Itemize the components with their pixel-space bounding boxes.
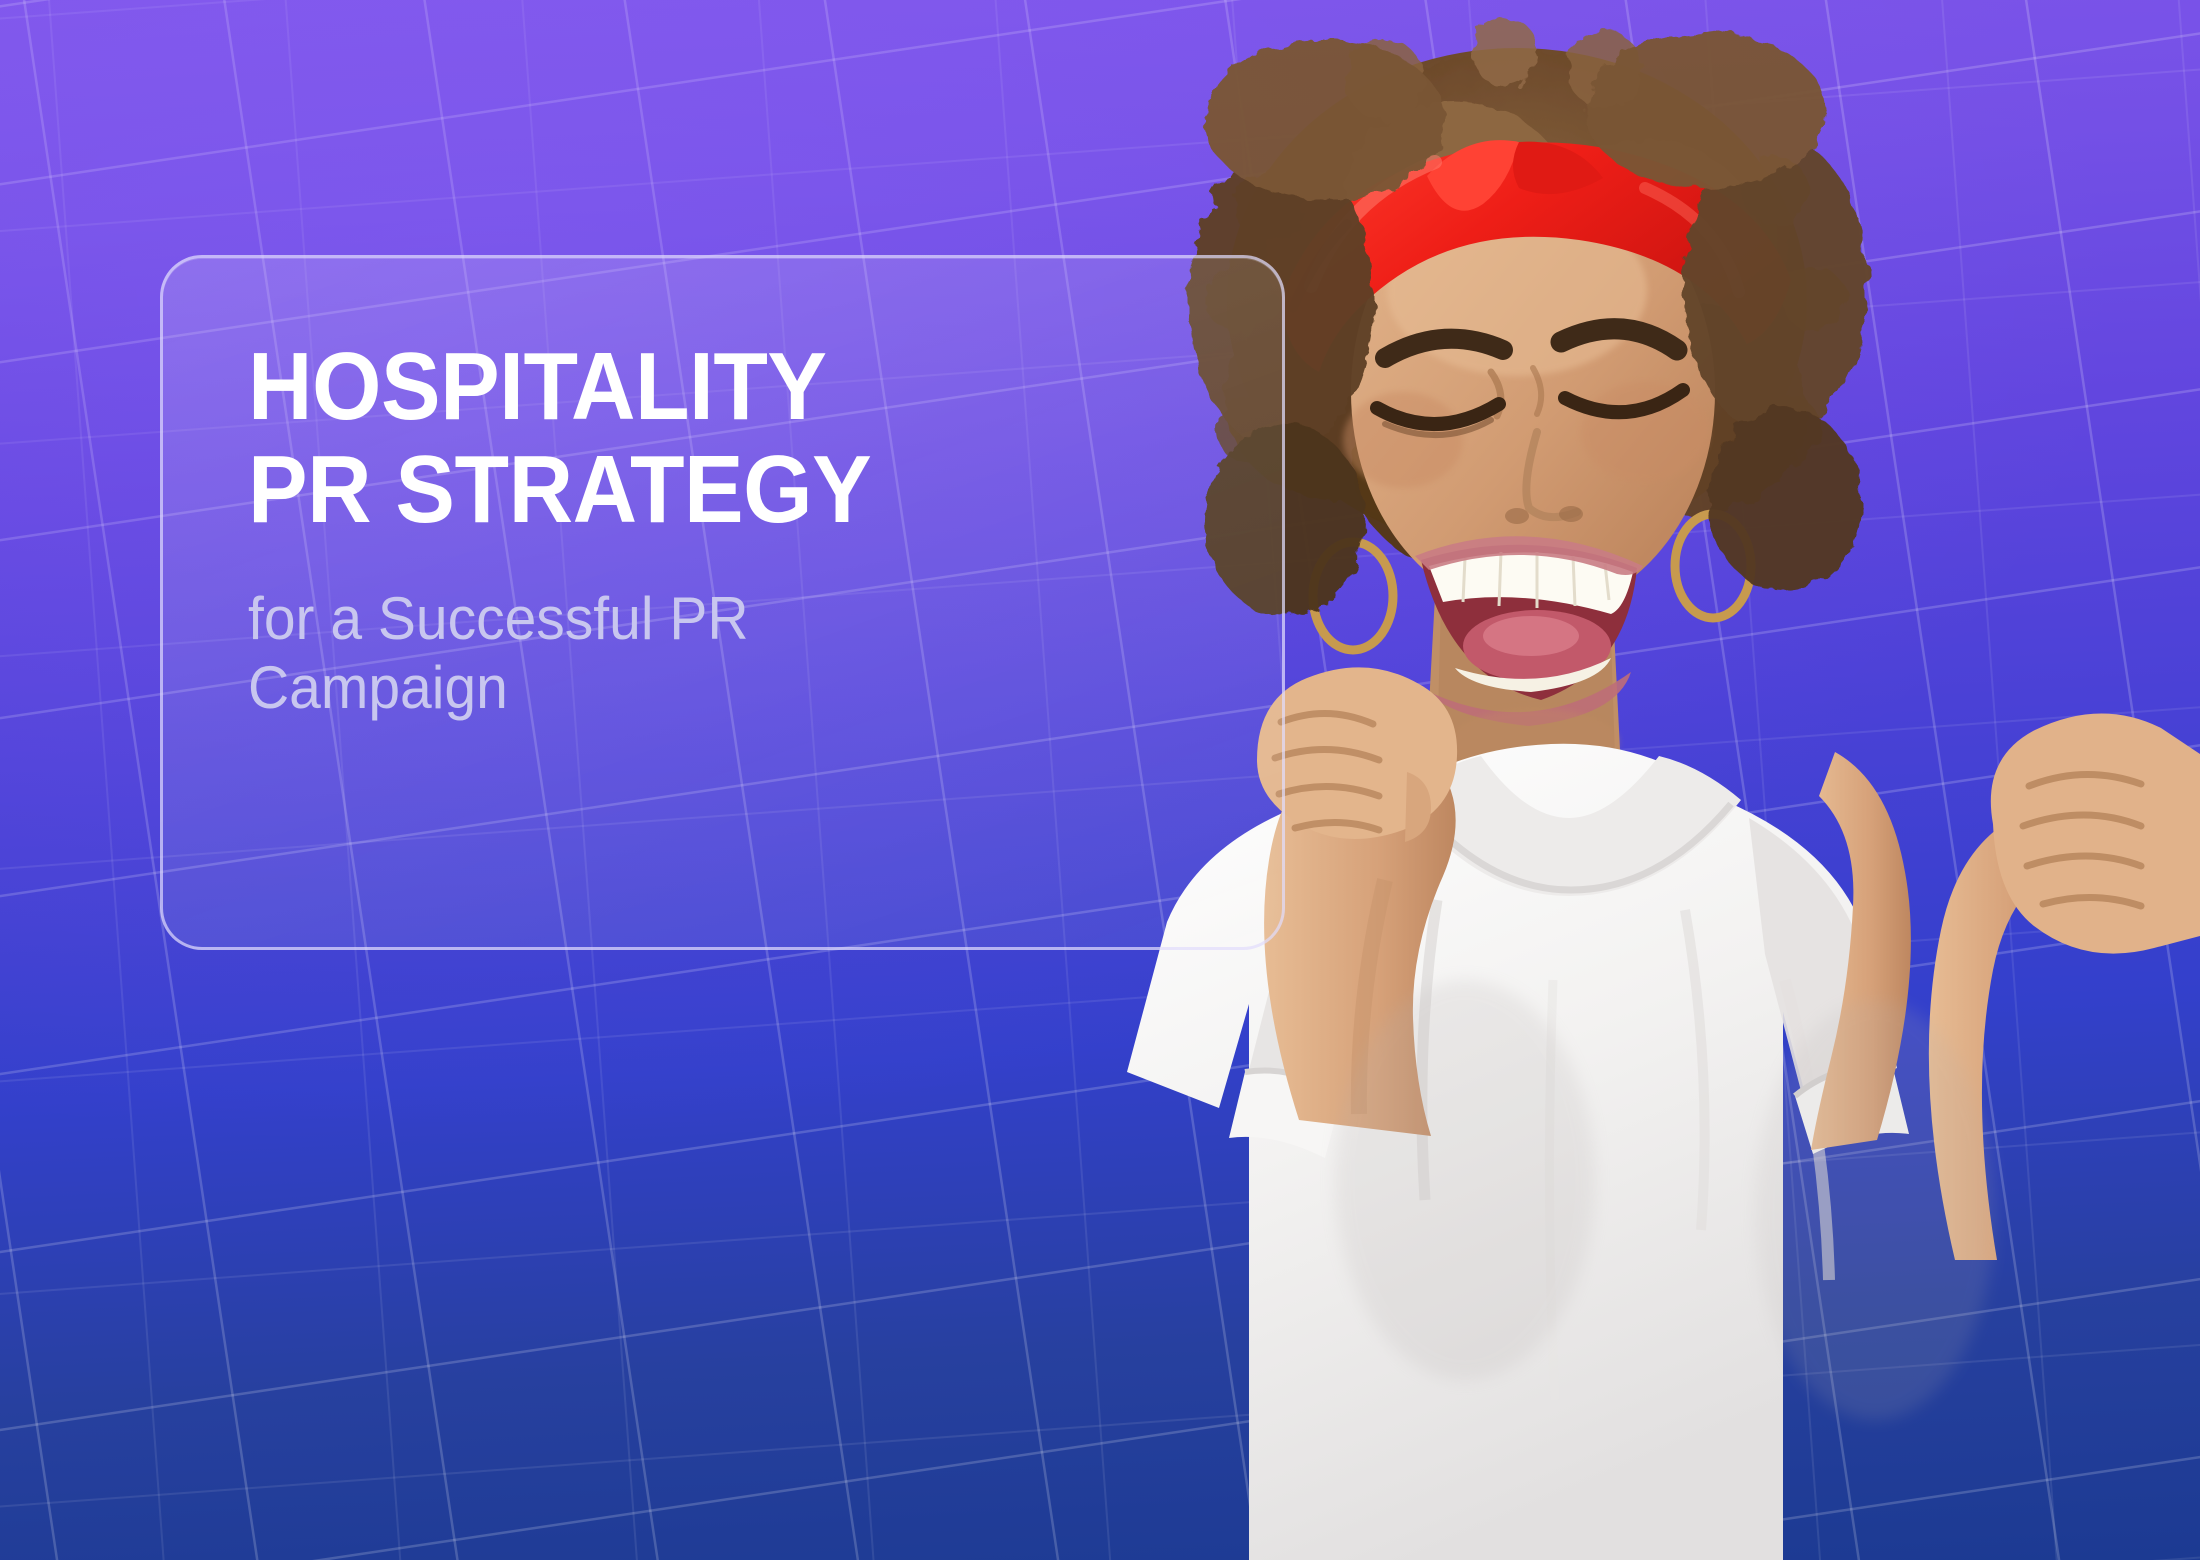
raised-fist-right	[1811, 713, 2200, 1260]
card-content: HOSPITALITY PR STRATEGY for a Successful…	[248, 336, 1222, 722]
hoop-earring-left	[1313, 542, 1393, 650]
promo-banner: HOSPITALITY PR STRATEGY for a Successful…	[0, 0, 2200, 1560]
mouth	[1415, 536, 1643, 726]
raised-fist-left	[1257, 667, 1457, 1136]
page-subtitle: for a Successful PR Campaign	[248, 585, 837, 722]
neck	[1423, 560, 1623, 838]
page-title: HOSPITALITY PR STRATEGY	[248, 336, 1154, 541]
glass-card: HOSPITALITY PR STRATEGY for a Successful…	[160, 255, 1285, 950]
red-headband	[1281, 140, 1791, 372]
face	[1343, 170, 1715, 776]
hair-volume	[1205, 18, 1847, 585]
hoop-earring-right	[1675, 514, 1751, 618]
hair-front	[1189, 32, 1867, 616]
